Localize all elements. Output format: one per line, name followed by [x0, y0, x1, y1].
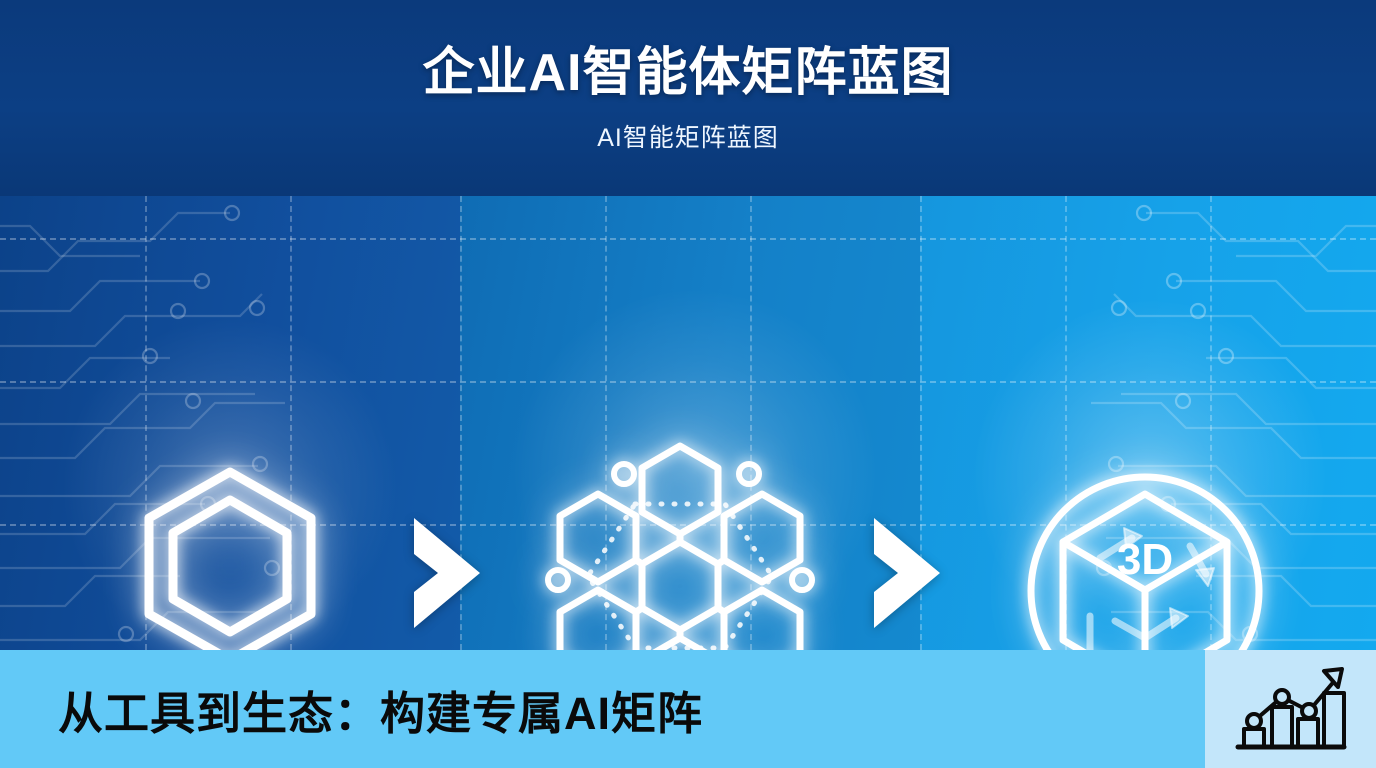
slide-canvas: 企业AI智能体矩阵蓝图 AI智能矩阵蓝图 [0, 0, 1376, 768]
chevron-right-icon [868, 514, 946, 632]
cube-3d-badge-label: 3D [1117, 535, 1173, 584]
bar-chart-growth-icon [1232, 663, 1350, 755]
footer-headline: 从工具到生态：构建专属AI矩阵 [58, 650, 703, 768]
page-title: 企业AI智能体矩阵蓝图 [0, 30, 1376, 105]
hexagon-network-cluster-icon[interactable] [540, 436, 820, 650]
cube-3d-cycle-icon[interactable]: 3D [1020, 466, 1270, 650]
chevron-right-icon [408, 514, 486, 632]
page-subtitle: AI智能矩阵蓝图 [0, 118, 1376, 154]
slide-header: 企业AI智能体矩阵蓝图 AI智能矩阵蓝图 [0, 0, 1376, 196]
slide-footer: 从工具到生态：构建专属AI矩阵 [0, 650, 1376, 768]
footer-icon-panel [1205, 650, 1376, 768]
stage-diagram: 3D 单点工具 高效协同 自驱演进生态 [0, 196, 1376, 650]
hexagon-outline-icon[interactable] [130, 466, 330, 650]
